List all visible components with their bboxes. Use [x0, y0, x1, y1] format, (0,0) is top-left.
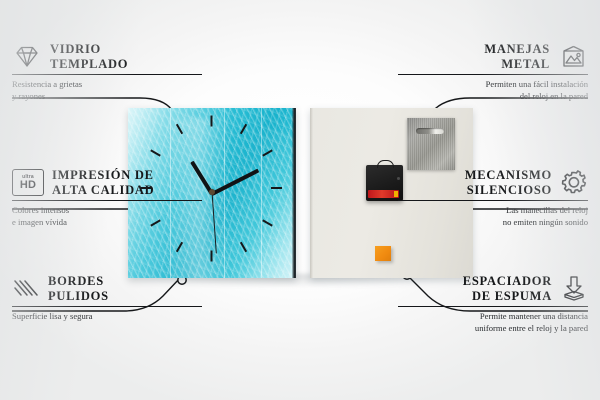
callout-rule: [12, 200, 202, 201]
callout-impresion-alta-calidad: ultra HD IMPRESIÓN DE ALTA CALIDAD Color…: [12, 168, 202, 228]
callout-header: ultra HD IMPRESIÓN DE ALTA CALIDAD: [12, 168, 202, 197]
callout-vidrio-templado: VIDRIO TEMPLADO Resistencia a grietas y …: [12, 42, 202, 102]
callout-header: BORDES PULIDOS: [12, 274, 202, 303]
diagonal-lines-icon: [12, 276, 40, 301]
clock-tick: [211, 251, 213, 262]
callout-rule: [398, 74, 588, 75]
foam-spacer: [375, 246, 391, 261]
clock-tick: [211, 116, 213, 127]
callout-espaciador-espuma: ESPACIADOR DE ESPUMA Permite mantener un…: [398, 274, 588, 334]
glass-seam-3: [261, 108, 262, 278]
callout-title: ESPACIADOR DE ESPUMA: [463, 274, 552, 303]
callout-description: Resistencia a grietas y rayones: [12, 79, 202, 102]
ultra-hd-icon: ultra HD: [12, 169, 44, 196]
movement-hanger-loop: [377, 160, 394, 168]
hanger-slot: [416, 128, 444, 134]
callout-rule: [12, 306, 202, 307]
callout-title: BORDES PULIDOS: [48, 274, 109, 303]
gear-icon: [560, 169, 588, 196]
callout-description: Permite mantener una distancia uniforme …: [398, 311, 588, 334]
callout-description: Colores intensos e imagen vívida: [12, 205, 202, 228]
callout-manejas-metal: MANEJAS METAL Permiten una fácil instala…: [398, 42, 588, 102]
callout-rule: [398, 306, 588, 307]
callout-rule: [398, 200, 588, 201]
callout-title: MECANISMO SILENCIOSO: [465, 168, 552, 197]
callout-header: MECANISMO SILENCIOSO: [398, 168, 588, 197]
callout-bordes-pulidos: BORDES PULIDOS Superficie lisa y segura: [12, 274, 202, 323]
callout-title: VIDRIO TEMPLADO: [50, 42, 128, 71]
callout-title: MANEJAS METAL: [484, 42, 550, 71]
callout-description: Permiten una fácil instalación del reloj…: [398, 79, 588, 102]
callout-mecanismo-silencioso: MECANISMO SILENCIOSO Las manecillas del …: [398, 168, 588, 228]
callout-title: IMPRESIÓN DE ALTA CALIDAD: [52, 168, 154, 197]
diamond-icon: [12, 44, 42, 70]
picture-frame-icon: [558, 44, 588, 70]
battery-compartment: [368, 190, 399, 198]
metal-hanger-plate: [407, 118, 455, 170]
infographic-stage: VIDRIO TEMPLADO Resistencia a grietas y …: [0, 0, 600, 400]
callout-header: ESPACIADOR DE ESPUMA: [398, 274, 588, 303]
arrow-down-block-icon: [560, 275, 588, 302]
glass-edge: [292, 108, 296, 278]
callout-rule: [12, 74, 202, 75]
clock-center-cap: [209, 189, 215, 195]
callout-header: MANEJAS METAL: [398, 42, 588, 71]
callout-description: Las manecillas del reloj no emiten ningú…: [398, 205, 588, 228]
callout-description: Superficie lisa y segura: [12, 311, 202, 323]
glass-seam-2: [224, 108, 225, 278]
clock-tick: [271, 187, 282, 189]
callout-header: VIDRIO TEMPLADO: [12, 42, 202, 71]
panel-edge: [310, 108, 313, 278]
